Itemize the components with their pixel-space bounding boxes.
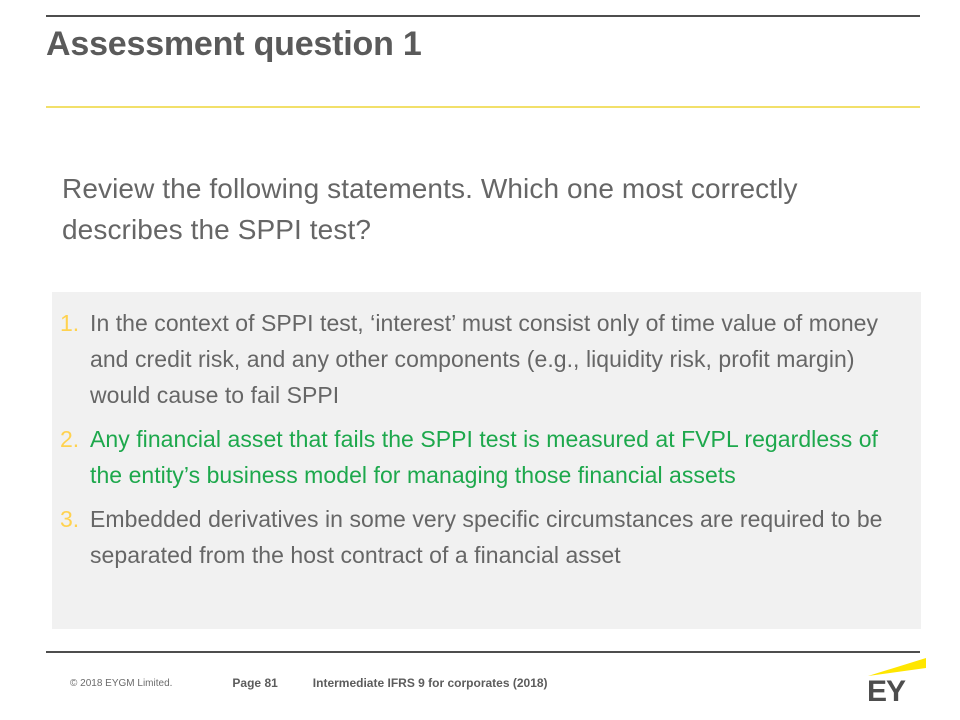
answer-option-number: 3. — [52, 501, 90, 537]
ey-logo: EY — [862, 658, 936, 710]
answer-option-1[interactable]: 1. In the context of SPPI test, ‘interes… — [52, 305, 921, 413]
footer: © 2018 EYGM Limited. Page 81 Intermediat… — [70, 673, 770, 693]
ey-wordmark: EY — [867, 675, 905, 709]
slide-canvas: Assessment question 1 Review the followi… — [0, 0, 960, 720]
answer-option-number: 1. — [52, 305, 90, 341]
answer-option-text: Embedded derivatives in some very specif… — [90, 501, 921, 573]
top-divider — [46, 15, 920, 17]
answer-option-3[interactable]: 3. Embedded derivatives in some very spe… — [52, 501, 921, 573]
answer-option-text-correct: Any financial asset that fails the SPPI … — [90, 421, 921, 493]
footer-divider — [46, 651, 920, 653]
page-title: Assessment question 1 — [46, 22, 906, 66]
title-accent-divider — [46, 106, 920, 108]
footer-copyright: © 2018 EYGM Limited. — [70, 678, 172, 689]
answer-option-number: 2. — [52, 421, 90, 457]
footer-page-number: Page 81 — [232, 676, 277, 690]
answer-options-panel: 1. In the context of SPPI test, ‘interes… — [52, 292, 921, 629]
answer-options-list: 1. In the context of SPPI test, ‘interes… — [52, 292, 921, 581]
footer-course-title: Intermediate IFRS 9 for corporates (2018… — [313, 676, 548, 690]
question-prompt: Review the following statements. Which o… — [62, 168, 907, 250]
answer-option-text: In the context of SPPI test, ‘interest’ … — [90, 305, 921, 413]
answer-option-2[interactable]: 2. Any financial asset that fails the SP… — [52, 421, 921, 493]
